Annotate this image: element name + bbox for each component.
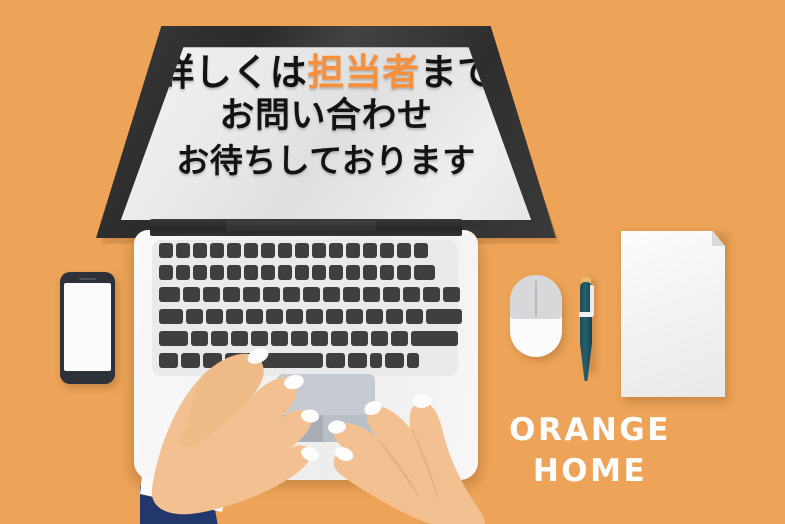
keyboard-key[interactable] — [363, 243, 377, 258]
keyboard-key[interactable] — [223, 287, 240, 302]
keyboard-key[interactable] — [443, 287, 460, 302]
keyboard-key[interactable] — [312, 243, 326, 258]
brand-line-1: ORANGE — [490, 412, 690, 449]
keyboard-key[interactable] — [326, 309, 343, 324]
keyboard-key[interactable] — [306, 309, 323, 324]
keyboard-key[interactable] — [295, 265, 309, 280]
keyboard-key[interactable] — [278, 243, 292, 258]
keyboard-key[interactable] — [193, 265, 207, 280]
pen-center-ring — [579, 312, 593, 317]
keyboard-key[interactable] — [159, 243, 173, 258]
keyboard-key[interactable] — [261, 243, 275, 258]
keyboard-key[interactable] — [397, 265, 411, 280]
keyboard-key[interactable] — [176, 265, 190, 280]
keyboard-key[interactable] — [159, 287, 180, 302]
screen-message-line-3: お待ちしております — [96, 143, 556, 180]
keyboard-key[interactable] — [363, 287, 380, 302]
keyboard-key[interactable] — [183, 287, 200, 302]
brand-line-2: HOME — [490, 453, 690, 490]
keyboard-key[interactable] — [323, 287, 340, 302]
paper-sheet — [621, 231, 725, 397]
keyboard-key[interactable] — [227, 243, 241, 258]
laptop-lid: 詳しくは担当者まで お問い合わせ お待ちしております — [96, 26, 556, 238]
keyboard-row — [152, 243, 465, 258]
keyboard-key[interactable] — [244, 243, 258, 258]
keyboard-key[interactable] — [261, 265, 275, 280]
brand-wordmark: ORANGE HOME — [490, 412, 690, 489]
keyboard-key[interactable] — [227, 265, 241, 280]
keyboard-key[interactable] — [303, 287, 320, 302]
keyboard-key[interactable] — [278, 265, 292, 280]
keyboard-key[interactable] — [383, 287, 400, 302]
mouse-button-divider — [535, 281, 537, 317]
keyboard-key[interactable] — [203, 287, 220, 302]
keyboard-key[interactable] — [423, 287, 440, 302]
keyboard-key[interactable] — [329, 243, 343, 258]
keyboard-key[interactable] — [403, 287, 420, 302]
keyboard-key[interactable] — [312, 265, 326, 280]
keyboard-key[interactable] — [380, 265, 394, 280]
keyboard-key[interactable] — [193, 243, 207, 258]
keyboard-key[interactable] — [283, 287, 300, 302]
keyboard-key[interactable] — [397, 243, 411, 258]
keyboard-key[interactable] — [414, 243, 428, 258]
keyboard-key[interactable] — [210, 243, 224, 258]
keyboard-key[interactable] — [159, 309, 183, 324]
keyboard-key[interactable] — [386, 309, 403, 324]
keyboard-key[interactable] — [226, 309, 243, 324]
keyboard-key[interactable] — [426, 309, 462, 324]
keyboard-key[interactable] — [244, 265, 258, 280]
keyboard-key[interactable] — [246, 309, 263, 324]
keyboard-key[interactable] — [263, 287, 280, 302]
keyboard-key[interactable] — [286, 309, 303, 324]
keyboard-key[interactable] — [391, 331, 408, 346]
keyboard-key[interactable] — [407, 353, 419, 368]
keyboard-key[interactable] — [176, 243, 190, 258]
keyboard-key[interactable] — [363, 265, 377, 280]
laptop-hinge-gloss — [226, 221, 376, 231]
phone-screen[interactable] — [64, 283, 111, 371]
keyboard-key[interactable] — [346, 265, 360, 280]
keyboard-key[interactable] — [210, 265, 224, 280]
phone-speaker — [79, 278, 96, 280]
keyboard-key[interactable] — [243, 287, 260, 302]
poster-scene: 詳しくは担当者まで お問い合わせ お待ちしております — [0, 0, 785, 524]
keyboard-key[interactable] — [266, 309, 283, 324]
keyboard-key[interactable] — [295, 243, 309, 258]
keyboard-row — [152, 309, 465, 324]
keyboard-key[interactable] — [414, 265, 435, 280]
screen-line1-highlight: 担当者 — [307, 51, 420, 94]
keyboard-key[interactable] — [206, 309, 223, 324]
keyboard-key[interactable] — [346, 243, 360, 258]
keyboard-key[interactable] — [159, 265, 173, 280]
keyboard-key[interactable] — [346, 309, 363, 324]
screen-message-line-2: お問い合わせ — [96, 97, 556, 136]
smartphone[interactable] — [60, 272, 115, 384]
keyboard-key[interactable] — [406, 309, 423, 324]
keyboard-key[interactable] — [380, 243, 394, 258]
keyboard-row — [152, 287, 465, 302]
keyboard-row — [152, 265, 465, 280]
keyboard-key[interactable] — [329, 265, 343, 280]
screen-line1-prefix: 詳しくは — [157, 51, 307, 94]
keyboard-key[interactable] — [343, 287, 360, 302]
keyboard-key[interactable] — [366, 309, 383, 324]
keyboard-key[interactable] — [186, 309, 203, 324]
keyboard-key[interactable] — [411, 331, 458, 346]
